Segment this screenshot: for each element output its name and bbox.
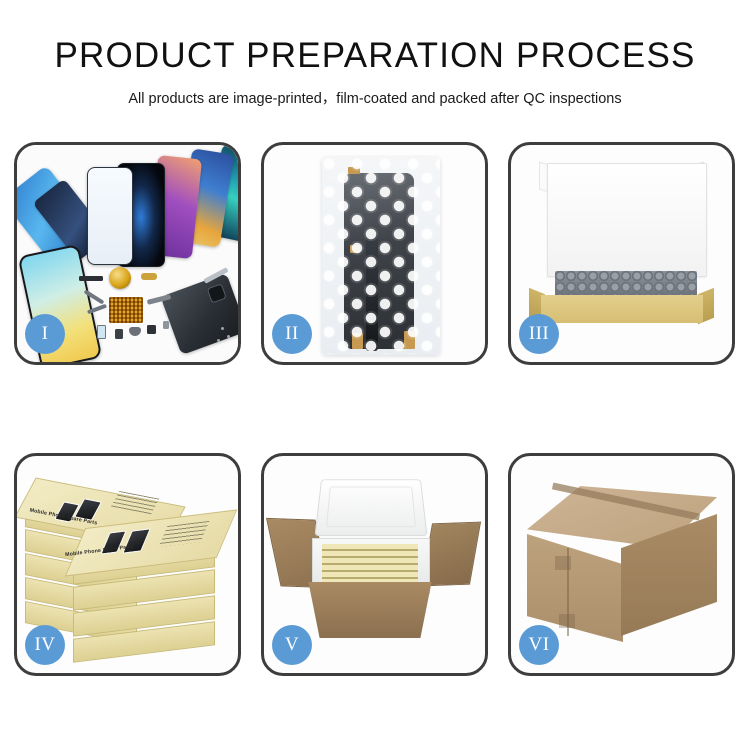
carton-front-graphic xyxy=(300,582,440,638)
step-badge-3: III xyxy=(519,314,559,354)
tempered-glass-graphic xyxy=(87,167,133,265)
step-badge-1: I xyxy=(25,314,65,354)
gold-flex-part xyxy=(141,273,157,280)
step-badge-5: V xyxy=(272,625,312,665)
page-subtitle: All products are image-printed，film-coat… xyxy=(0,87,750,108)
logic-board-part xyxy=(109,297,143,323)
wireless-coil-part xyxy=(109,267,131,289)
carton-label-patch-lower xyxy=(559,614,575,628)
process-step-grid: I II III xyxy=(14,142,736,676)
process-step-3[interactable]: III xyxy=(508,142,735,365)
process-step-4[interactable]: Mobile Phone Spare Parts Mobile Phone Sp… xyxy=(14,453,241,676)
step-badge-4: IV xyxy=(25,625,65,665)
page-title: PRODUCT PREPARATION PROCESS xyxy=(0,38,750,73)
process-step-1[interactable]: I xyxy=(14,142,241,365)
bubble-texture-overlay xyxy=(322,157,440,355)
process-step-6[interactable]: VI xyxy=(508,453,735,676)
process-step-2[interactable]: II xyxy=(261,142,488,365)
ic-chip-part xyxy=(147,325,156,334)
step-badge-6: VI xyxy=(519,625,559,665)
page-header: PRODUCT PREPARATION PROCESS All products… xyxy=(0,0,750,108)
bubble-wrap-bag-graphic xyxy=(322,157,440,355)
foam-lid-graphic xyxy=(314,479,427,536)
carton-label-patch-upper xyxy=(555,556,571,570)
process-step-5[interactable]: V xyxy=(261,453,488,676)
white-liner-graphic xyxy=(547,163,707,277)
packed-boxes-graphic xyxy=(322,544,418,586)
camera-module-part xyxy=(115,329,123,339)
kraft-box-front-graphic xyxy=(541,295,703,323)
battery-connector-part xyxy=(97,325,106,339)
step-badge-2: II xyxy=(272,314,312,354)
connector-part xyxy=(79,276,103,281)
small-part-a xyxy=(163,321,169,329)
